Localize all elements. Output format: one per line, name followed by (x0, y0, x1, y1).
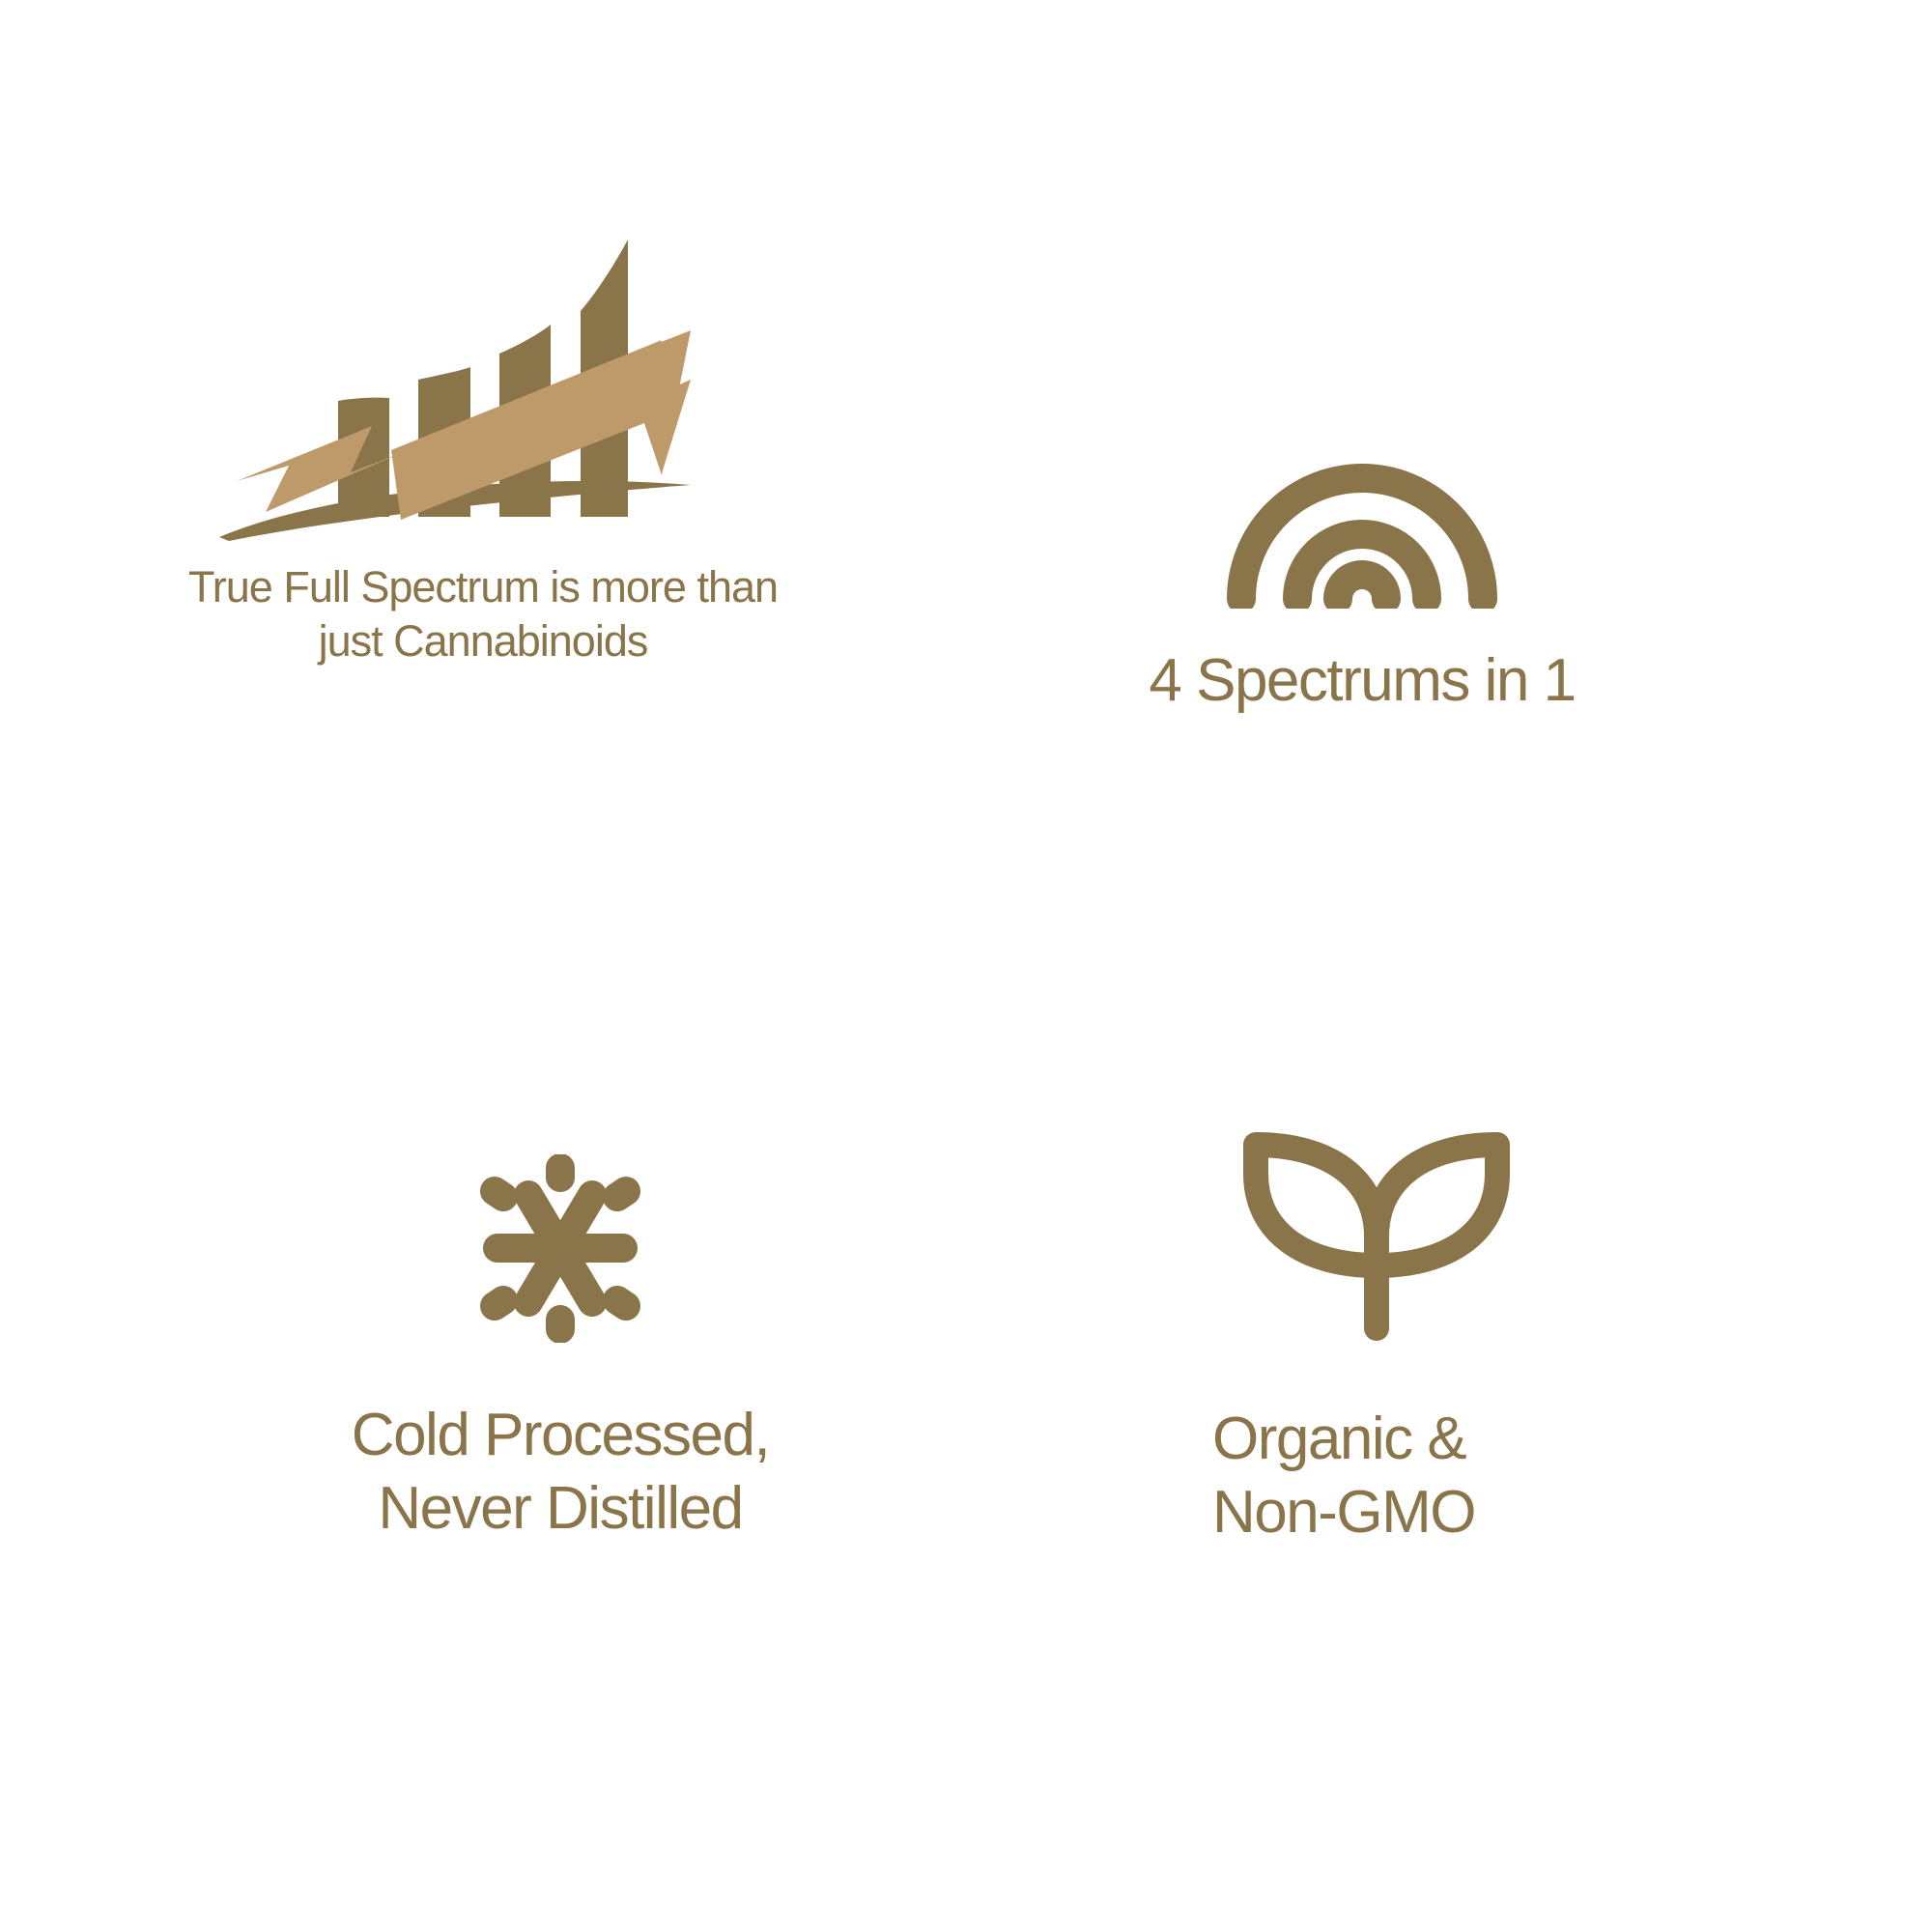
growth-chart-icon (208, 222, 787, 541)
caption-line-1: Cold Processed, (213, 1399, 908, 1472)
feature-cold-caption: Cold Processed, Never Distilled (213, 1399, 908, 1546)
feature-badge-board: True Full Spectrum is more than just Can… (0, 0, 1932, 1932)
caption-line-2: Non-GMO (1212, 1476, 1475, 1549)
feature-growth: True Full Spectrum is more than just Can… (116, 222, 850, 668)
caption-line-2: Never Distilled (213, 1472, 908, 1546)
caption-line-2: just Cannabinoids (116, 614, 850, 668)
feature-spectrums: 4 Spectrums in 1 (1024, 464, 1700, 717)
rainbow-arcs-icon (1222, 464, 1502, 609)
feature-organic-caption: Organic & Non-GMO (1212, 1403, 1475, 1549)
caption-line-1: True Full Spectrum is more than (116, 560, 850, 614)
sprout-leaves-icon (1232, 1121, 1521, 1352)
caption-line-1: Organic & (1212, 1403, 1475, 1476)
feature-growth-caption: True Full Spectrum is more than just Can… (116, 560, 850, 668)
feature-spectrums-caption: 4 Spectrums in 1 (1024, 645, 1700, 717)
feature-cold: Cold Processed, Never Distilled (213, 1154, 908, 1546)
feature-organic: Organic & Non-GMO (1072, 1121, 1690, 1549)
caption-line-1: 4 Spectrums in 1 (1024, 645, 1700, 717)
snowflake-icon (473, 1154, 647, 1343)
